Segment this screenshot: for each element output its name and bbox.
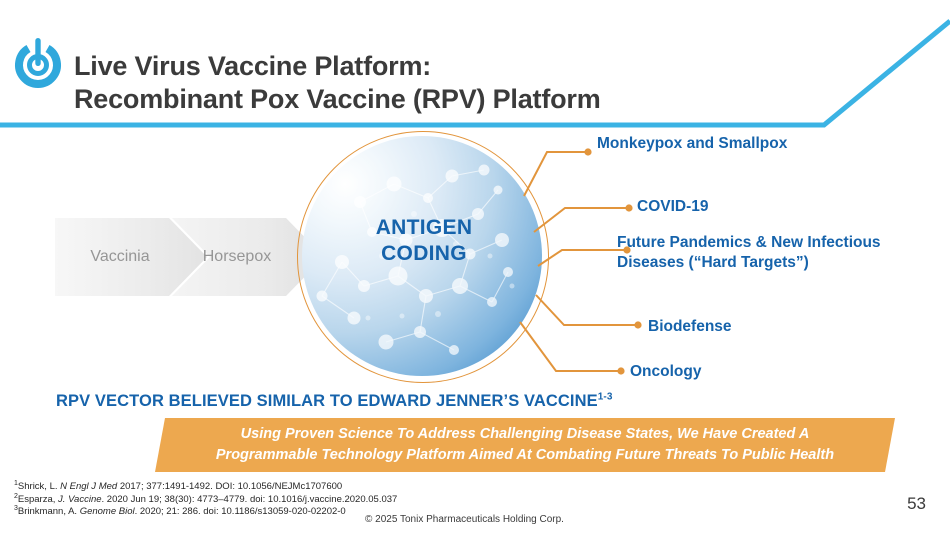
- callout-label-monkeypox-smallpox: Monkeypox and Smallpox: [597, 134, 787, 154]
- footnote-3-pre: Brinkmann, A.: [18, 506, 80, 517]
- slide-canvas: Live Virus Vaccine Platform: Recombinant…: [0, 0, 950, 533]
- callout-label-covid-19: COVID-19: [637, 197, 709, 217]
- sphere-label-line-1: ANTIGEN: [297, 215, 551, 241]
- callout-line-2: [538, 250, 627, 266]
- banner-text: Using Proven Science To Address Challeng…: [155, 418, 895, 472]
- rpv-headline-text: RPV VECTOR BELIEVED SIMILAR TO EDWARD JE…: [56, 392, 598, 410]
- callout-label-oncology: Oncology: [630, 362, 701, 382]
- footnote-2-pre: Esparza,: [18, 494, 58, 505]
- banner-line-2: Programmable Technology Platform Aimed A…: [216, 445, 834, 466]
- footnote-2-italic: J. Vaccine: [58, 494, 101, 505]
- footnote-1-pre: Shrick, L.: [18, 481, 60, 492]
- sphere-label-line-2: CODING: [297, 241, 551, 267]
- title-line-2: Recombinant Pox Vaccine (RPV) Platform: [74, 83, 834, 116]
- footnote-1-post: 2017; 377:1491-1492. DOI: 10.1056/NEJMc1…: [117, 481, 342, 492]
- rpv-headline-superscript: 1-3: [598, 392, 613, 403]
- page-title: Live Virus Vaccine Platform: Recombinant…: [74, 50, 834, 116]
- callout-dot-3: [634, 321, 641, 328]
- callout-dot-0: [584, 148, 591, 155]
- footnote-3: 3Brinkmann, A. Genome Biol. 2020; 21: 28…: [14, 506, 397, 519]
- callout-dot-1: [625, 204, 632, 211]
- callout-dot-4: [617, 367, 624, 374]
- copyright-notice: © 2025 Tonix Pharmaceuticals Holding Cor…: [365, 514, 564, 525]
- rpv-headline: RPV VECTOR BELIEVED SIMILAR TO EDWARD JE…: [56, 392, 613, 411]
- callout-label-future-pandemics: Future Pandemics & New Infectious Diseas…: [617, 233, 881, 273]
- value-statement-banner: Using Proven Science To Address Challeng…: [155, 418, 895, 472]
- power-button-icon: [10, 33, 66, 89]
- footnote-2: 2Esparza, J. Vaccine. 2020 Jun 19; 38(30…: [14, 494, 397, 507]
- footnote-1-italic: N Engl J Med: [60, 481, 117, 492]
- title-line-1: Live Virus Vaccine Platform:: [74, 50, 834, 83]
- callout-label-biodefense: Biodefense: [648, 317, 732, 337]
- footnote-3-italic: Genome Biol: [80, 506, 135, 517]
- banner-line-1: Using Proven Science To Address Challeng…: [241, 424, 810, 445]
- page-number: 53: [907, 494, 926, 514]
- footnotes: 1Shrick, L. N Engl J Med 2017; 377:1491-…: [14, 481, 397, 519]
- callout-line-3: [536, 295, 638, 325]
- antigen-coding-sphere: ANTIGEN CODING: [297, 131, 551, 385]
- footnote-2-post: . 2020 Jun 19; 38(30): 4773–4779. doi: 1…: [102, 494, 398, 505]
- sphere-label: ANTIGEN CODING: [297, 215, 551, 267]
- footnote-1: 1Shrick, L. N Engl J Med 2017; 377:1491-…: [14, 481, 397, 494]
- footnote-3-post: . 2020; 21: 286. doi: 10.1186/s13059-020…: [135, 506, 346, 517]
